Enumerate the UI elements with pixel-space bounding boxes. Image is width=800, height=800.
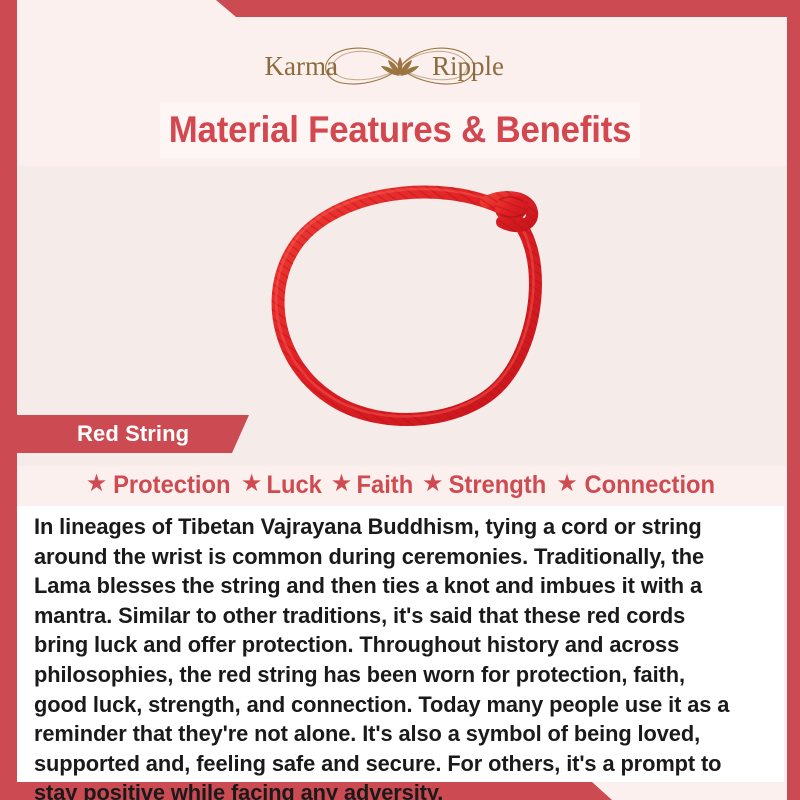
- feature-label: Faith: [357, 471, 414, 500]
- page-title: Material Features & Benefits: [169, 109, 631, 151]
- logo-word-karma: Karma: [265, 51, 338, 81]
- lotus-icon: [381, 57, 419, 76]
- feature-label: Strength: [449, 471, 547, 500]
- feature-label: Luck: [267, 471, 322, 500]
- brand-logo: Karma Ripple: [0, 36, 800, 98]
- feature-label: Protection: [113, 471, 230, 500]
- frame-left-bar: [0, 0, 17, 800]
- product-image-red-string-bracelet: [250, 170, 580, 445]
- karma-ripple-logo-svg: Karma Ripple: [250, 36, 550, 98]
- frame-right-bar: [787, 0, 800, 800]
- logo-word-ripple: Ripple: [432, 51, 504, 81]
- feature-item: ★ Strength: [422, 471, 549, 500]
- feature-item: ★ Faith: [331, 471, 415, 500]
- feature-item: ★ Connection: [556, 471, 718, 500]
- feature-item: ★ Luck: [241, 471, 324, 500]
- description-panel: In lineages of Tibetan Vajrayana Buddhis…: [17, 506, 784, 782]
- star-icon: ★: [556, 472, 578, 496]
- features-row: ★ Protection ★ Luck ★ Faith ★ Strength ★…: [17, 468, 787, 502]
- feature-label: Connection: [584, 471, 715, 500]
- description-text: In lineages of Tibetan Vajrayana Buddhis…: [34, 512, 743, 800]
- page-title-band: Material Features & Benefits: [160, 102, 640, 158]
- product-feature-poster: Karma Ripple Material Features & Benefit…: [0, 0, 800, 800]
- material-banner-label: Red String: [77, 421, 189, 447]
- feature-item: ★ Protection: [86, 471, 234, 500]
- material-banner: Red String: [17, 415, 249, 453]
- star-icon: ★: [241, 472, 263, 496]
- star-icon: ★: [422, 472, 444, 496]
- star-icon: ★: [86, 472, 108, 496]
- star-icon: ★: [331, 472, 353, 496]
